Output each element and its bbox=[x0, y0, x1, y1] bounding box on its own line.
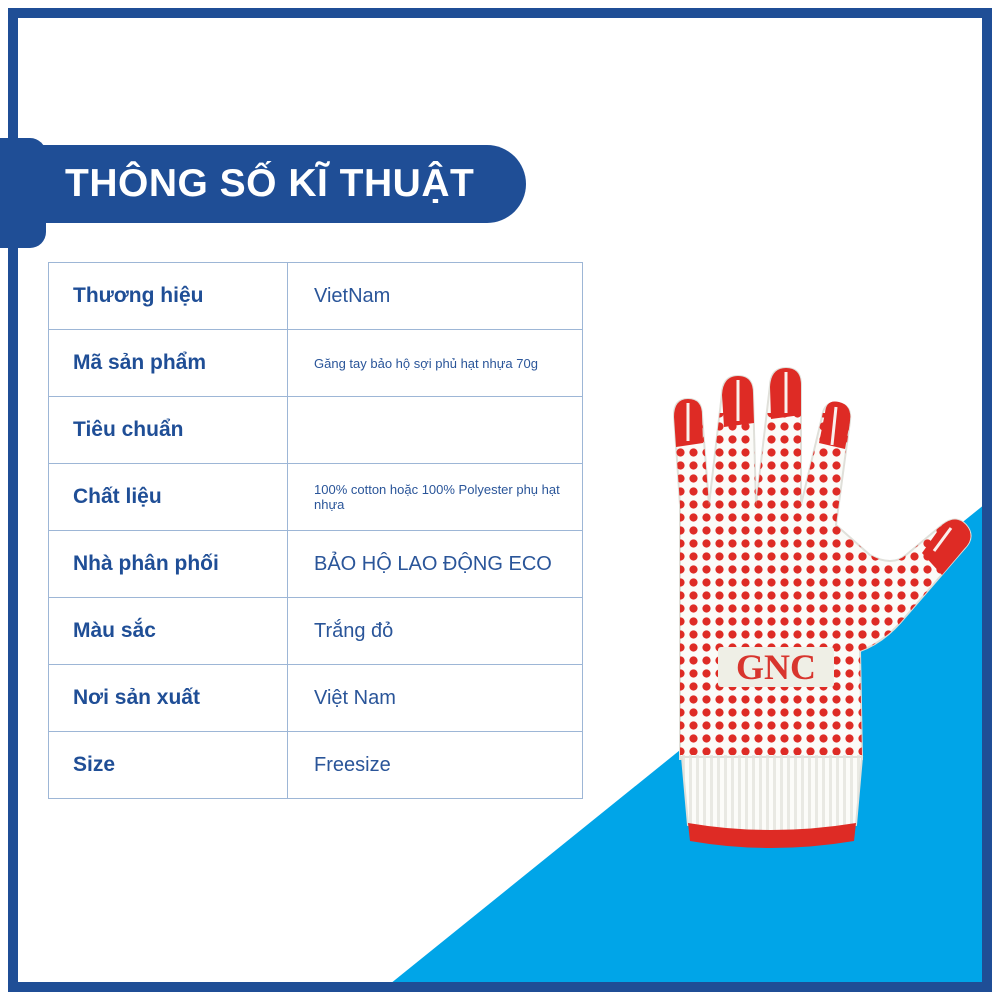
spec-value: Trắng đỏ bbox=[288, 598, 583, 665]
spec-value: VietNam bbox=[288, 263, 583, 330]
spec-value: BẢO HỘ LAO ĐỘNG ECO bbox=[288, 531, 583, 598]
infographic-canvas: GNC THÔNG SỐ KĨ THUẬT Thương hiệu VietNa… bbox=[0, 0, 1000, 1000]
spec-label: Màu sắc bbox=[49, 598, 288, 665]
spec-value: Freesize bbox=[288, 732, 583, 799]
table-row: Nơi sản xuất Việt Nam bbox=[49, 665, 583, 732]
glove-body bbox=[666, 368, 978, 763]
spec-label: Mã sản phẩm bbox=[49, 330, 288, 397]
specification-table: Thương hiệu VietNam Mã sản phẩm Găng tay… bbox=[48, 262, 583, 799]
spec-value: 100% cotton hoặc 100% Polyester phụ hạt … bbox=[288, 464, 583, 531]
glove-cuff bbox=[678, 755, 870, 848]
spec-label: Nhà phân phối bbox=[49, 531, 288, 598]
spec-label: Nơi sản xuất bbox=[49, 665, 288, 732]
table-row: Thương hiệu VietNam bbox=[49, 263, 583, 330]
spec-value: Việt Nam bbox=[288, 665, 583, 732]
glove-logo-patch: GNC bbox=[718, 647, 834, 687]
banner-pill: THÔNG SỐ KĨ THUẬT bbox=[0, 145, 526, 223]
table-row: Màu sắc Trắng đỏ bbox=[49, 598, 583, 665]
spec-label: Tiêu chuẩn bbox=[49, 397, 288, 464]
spec-value bbox=[288, 397, 583, 464]
table-row: Tiêu chuẩn bbox=[49, 397, 583, 464]
spec-value: Găng tay bảo hộ sợi phủ hạt nhựa 70g bbox=[288, 330, 583, 397]
glove-logo-text: GNC bbox=[736, 647, 816, 687]
table-row: Nhà phân phối BẢO HỘ LAO ĐỘNG ECO bbox=[49, 531, 583, 598]
spec-label: Thương hiệu bbox=[49, 263, 288, 330]
table-row: Size Freesize bbox=[49, 732, 583, 799]
specification-table-body: Thương hiệu VietNam Mã sản phẩm Găng tay… bbox=[49, 263, 583, 799]
table-row: Mã sản phẩm Găng tay bảo hộ sợi phủ hạt … bbox=[49, 330, 583, 397]
table-row: Chất liệu 100% cotton hoặc 100% Polyeste… bbox=[49, 464, 583, 531]
spec-label: Chất liệu bbox=[49, 464, 288, 531]
section-title-banner: THÔNG SỐ KĨ THUẬT bbox=[0, 138, 540, 248]
product-image-glove: GNC bbox=[570, 355, 1000, 915]
page-title: THÔNG SỐ KĨ THUẬT bbox=[65, 162, 474, 206]
spec-label: Size bbox=[49, 732, 288, 799]
